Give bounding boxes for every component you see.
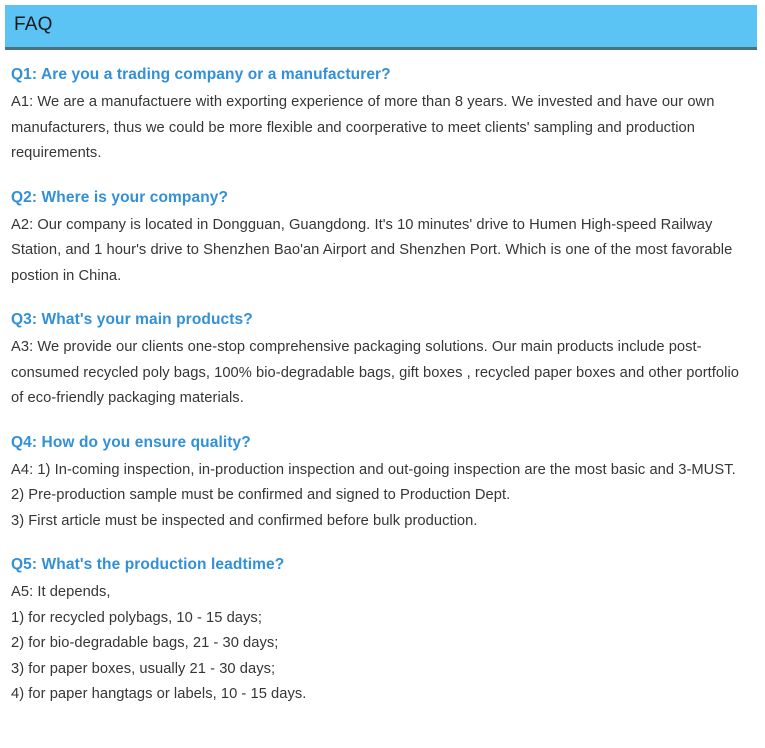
faq-page: FAQ Q1: Are you a trading company or a m… [0, 0, 765, 748]
faq-answer-2: A2: Our company is located in Dongguan, … [11, 213, 753, 290]
faq-answer-5-line-3: 2) for bio-degradable bags, 21 - 30 days… [11, 631, 753, 657]
faq-answer-5-line-1: A5: It depends, [11, 580, 753, 606]
faq-question-3: Q3: What's your main products? [11, 307, 753, 333]
faq-question-1: Q1: Are you a trading company or a manuf… [11, 62, 753, 88]
page-title: FAQ [14, 13, 53, 37]
faq-answer-5-line-5: 4) for paper hangtags or labels, 10 - 15… [11, 682, 753, 708]
faq-answer-5: A5: It depends, 1) for recycled polybags… [11, 580, 753, 708]
faq-answer-1: A1: We are a manufactuere with exporting… [11, 90, 753, 167]
faq-question-5: Q5: What's the production leadtime? [11, 552, 753, 578]
faq-item-1: Q1: Are you a trading company or a manuf… [11, 62, 753, 167]
faq-item-3: Q3: What's your main products? A3: We pr… [11, 307, 753, 412]
faq-item-4: Q4: How do you ensure quality? A4: 1) In… [11, 430, 753, 535]
faq-answer-4: A4: 1) In-coming inspection, in-producti… [11, 458, 753, 535]
faq-answer-5-line-4: 3) for paper boxes, usually 21 - 30 days… [11, 657, 753, 683]
faq-header-bar: FAQ [5, 5, 757, 50]
faq-answer-4-line-2: 2) Pre-production sample must be confirm… [11, 483, 753, 509]
faq-content: Q1: Are you a trading company or a manuf… [11, 62, 753, 708]
faq-question-4: Q4: How do you ensure quality? [11, 430, 753, 456]
faq-answer-5-line-2: 1) for recycled polybags, 10 - 15 days; [11, 606, 753, 632]
faq-item-2: Q2: Where is your company? A2: Our compa… [11, 185, 753, 290]
faq-answer-4-line-1: A4: 1) In-coming inspection, in-producti… [11, 458, 753, 484]
faq-answer-4-line-3: 3) First article must be inspected and c… [11, 509, 753, 535]
faq-answer-3: A3: We provide our clients one-stop comp… [11, 335, 753, 412]
faq-item-5: Q5: What's the production leadtime? A5: … [11, 552, 753, 708]
faq-question-2: Q2: Where is your company? [11, 185, 753, 211]
